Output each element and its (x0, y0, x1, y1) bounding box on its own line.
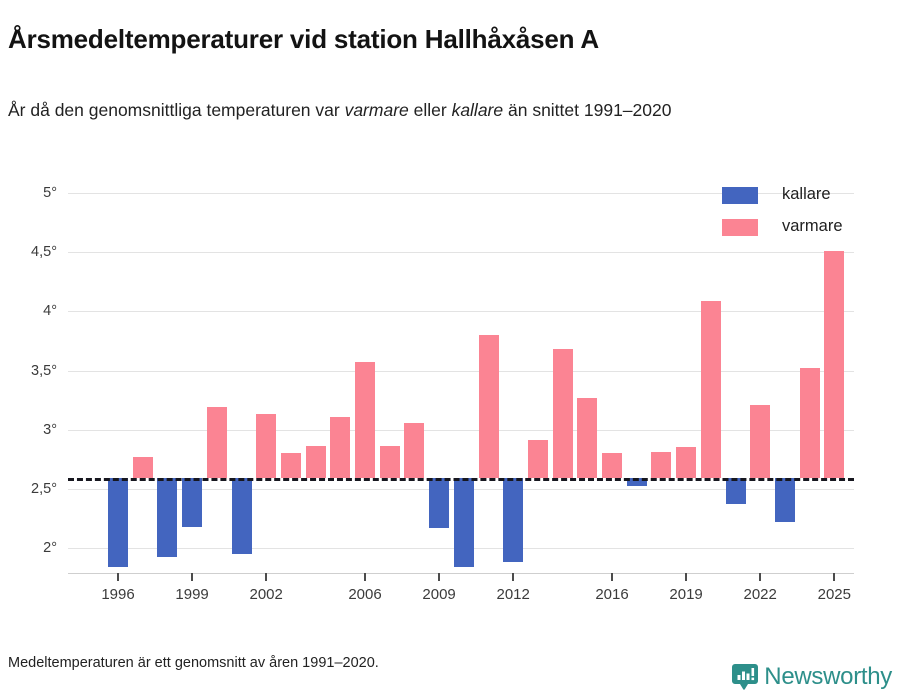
x-axis-line (68, 573, 854, 574)
x-axis-tick-label-2012: 2012 (497, 586, 530, 603)
y-axis-tick-label: 3,5° (31, 363, 57, 379)
y-gridline (68, 371, 854, 372)
x-axis-tick-label-1999: 1999 (175, 586, 208, 603)
bar-2023[interactable] (775, 478, 795, 522)
bar-2015[interactable] (577, 398, 597, 478)
x-axis-tick-label-2002: 2002 (250, 586, 283, 603)
x-axis-tick-mark (611, 573, 613, 581)
x-axis-tick-label-2025: 2025 (818, 586, 851, 603)
bar-2025[interactable] (824, 251, 844, 478)
x-axis-tick-mark (438, 573, 440, 581)
y-axis-tick-label: 5° (43, 185, 57, 201)
legend-swatch-varmare[interactable] (722, 219, 758, 236)
x-axis-tick-label-2006: 2006 (348, 586, 381, 603)
x-axis-tick-label-2009: 2009 (422, 586, 455, 603)
bar-2004[interactable] (306, 446, 326, 478)
bar-1998[interactable] (157, 478, 177, 557)
x-axis-tick-mark (265, 573, 267, 581)
bar-2019[interactable] (676, 447, 696, 478)
legend-swatch-kallare[interactable] (722, 187, 758, 204)
x-axis-tick-label-2022: 2022 (744, 586, 777, 603)
bar-2010[interactable] (454, 478, 474, 567)
bar-2016[interactable] (602, 453, 622, 478)
chart-page: Årsmedeltemperaturer vid station Hallhåx… (0, 0, 900, 700)
legend-label-varmare[interactable]: varmare (782, 217, 843, 236)
bar-2020[interactable] (701, 301, 721, 479)
bar-2009[interactable] (429, 478, 449, 528)
bar-2024[interactable] (800, 368, 820, 478)
bar-2000[interactable] (207, 407, 227, 478)
x-axis-tick-mark (759, 573, 761, 581)
bar-chart-plot: 2°2,5°3°3,5°4°4,5°5°19961999200220062009… (0, 0, 900, 700)
bar-2007[interactable] (380, 446, 400, 478)
newsworthy-logo[interactable]: Newsworthy (732, 663, 892, 691)
legend-label-kallare[interactable]: kallare (782, 185, 831, 204)
y-axis-tick-label: 2° (43, 540, 57, 556)
y-gridline (68, 252, 854, 253)
x-axis-tick-label-2019: 2019 (669, 586, 702, 603)
bar-2002[interactable] (256, 414, 276, 478)
y-gridline (68, 311, 854, 312)
y-axis-tick-label: 4,5° (31, 244, 57, 260)
bar-2022[interactable] (750, 405, 770, 478)
average-reference-line (68, 478, 854, 481)
bar-1997[interactable] (133, 457, 153, 478)
x-axis-tick-mark (833, 573, 835, 581)
x-axis-tick-label-1996: 1996 (101, 586, 134, 603)
chart-footnote: Medeltemperaturen är ett genomsnitt av å… (8, 655, 379, 671)
bar-2006[interactable] (355, 362, 375, 478)
newsworthy-mark-icon (732, 663, 758, 691)
x-axis-tick-mark (117, 573, 119, 581)
bar-1996[interactable] (108, 478, 128, 567)
bar-2021[interactable] (726, 478, 746, 504)
y-axis-tick-label: 4° (43, 303, 57, 319)
bar-2001[interactable] (232, 478, 252, 554)
bar-2013[interactable] (528, 440, 548, 478)
bar-2011[interactable] (479, 335, 499, 478)
y-axis-tick-label: 2,5° (31, 481, 57, 497)
x-axis-tick-mark (512, 573, 514, 581)
bar-2012[interactable] (503, 478, 523, 562)
bar-1999[interactable] (182, 478, 202, 527)
newsworthy-wordmark: Newsworthy (764, 665, 892, 689)
bar-2014[interactable] (553, 349, 573, 478)
y-axis-tick-label: 3° (43, 422, 57, 438)
x-axis-tick-label-2016: 2016 (595, 586, 628, 603)
y-gridline (68, 430, 854, 431)
bar-2008[interactable] (404, 423, 424, 479)
x-axis-tick-mark (685, 573, 687, 581)
bar-2005[interactable] (330, 417, 350, 479)
bar-2003[interactable] (281, 453, 301, 478)
x-axis-tick-mark (191, 573, 193, 581)
x-axis-tick-mark (364, 573, 366, 581)
bar-2018[interactable] (651, 452, 671, 478)
